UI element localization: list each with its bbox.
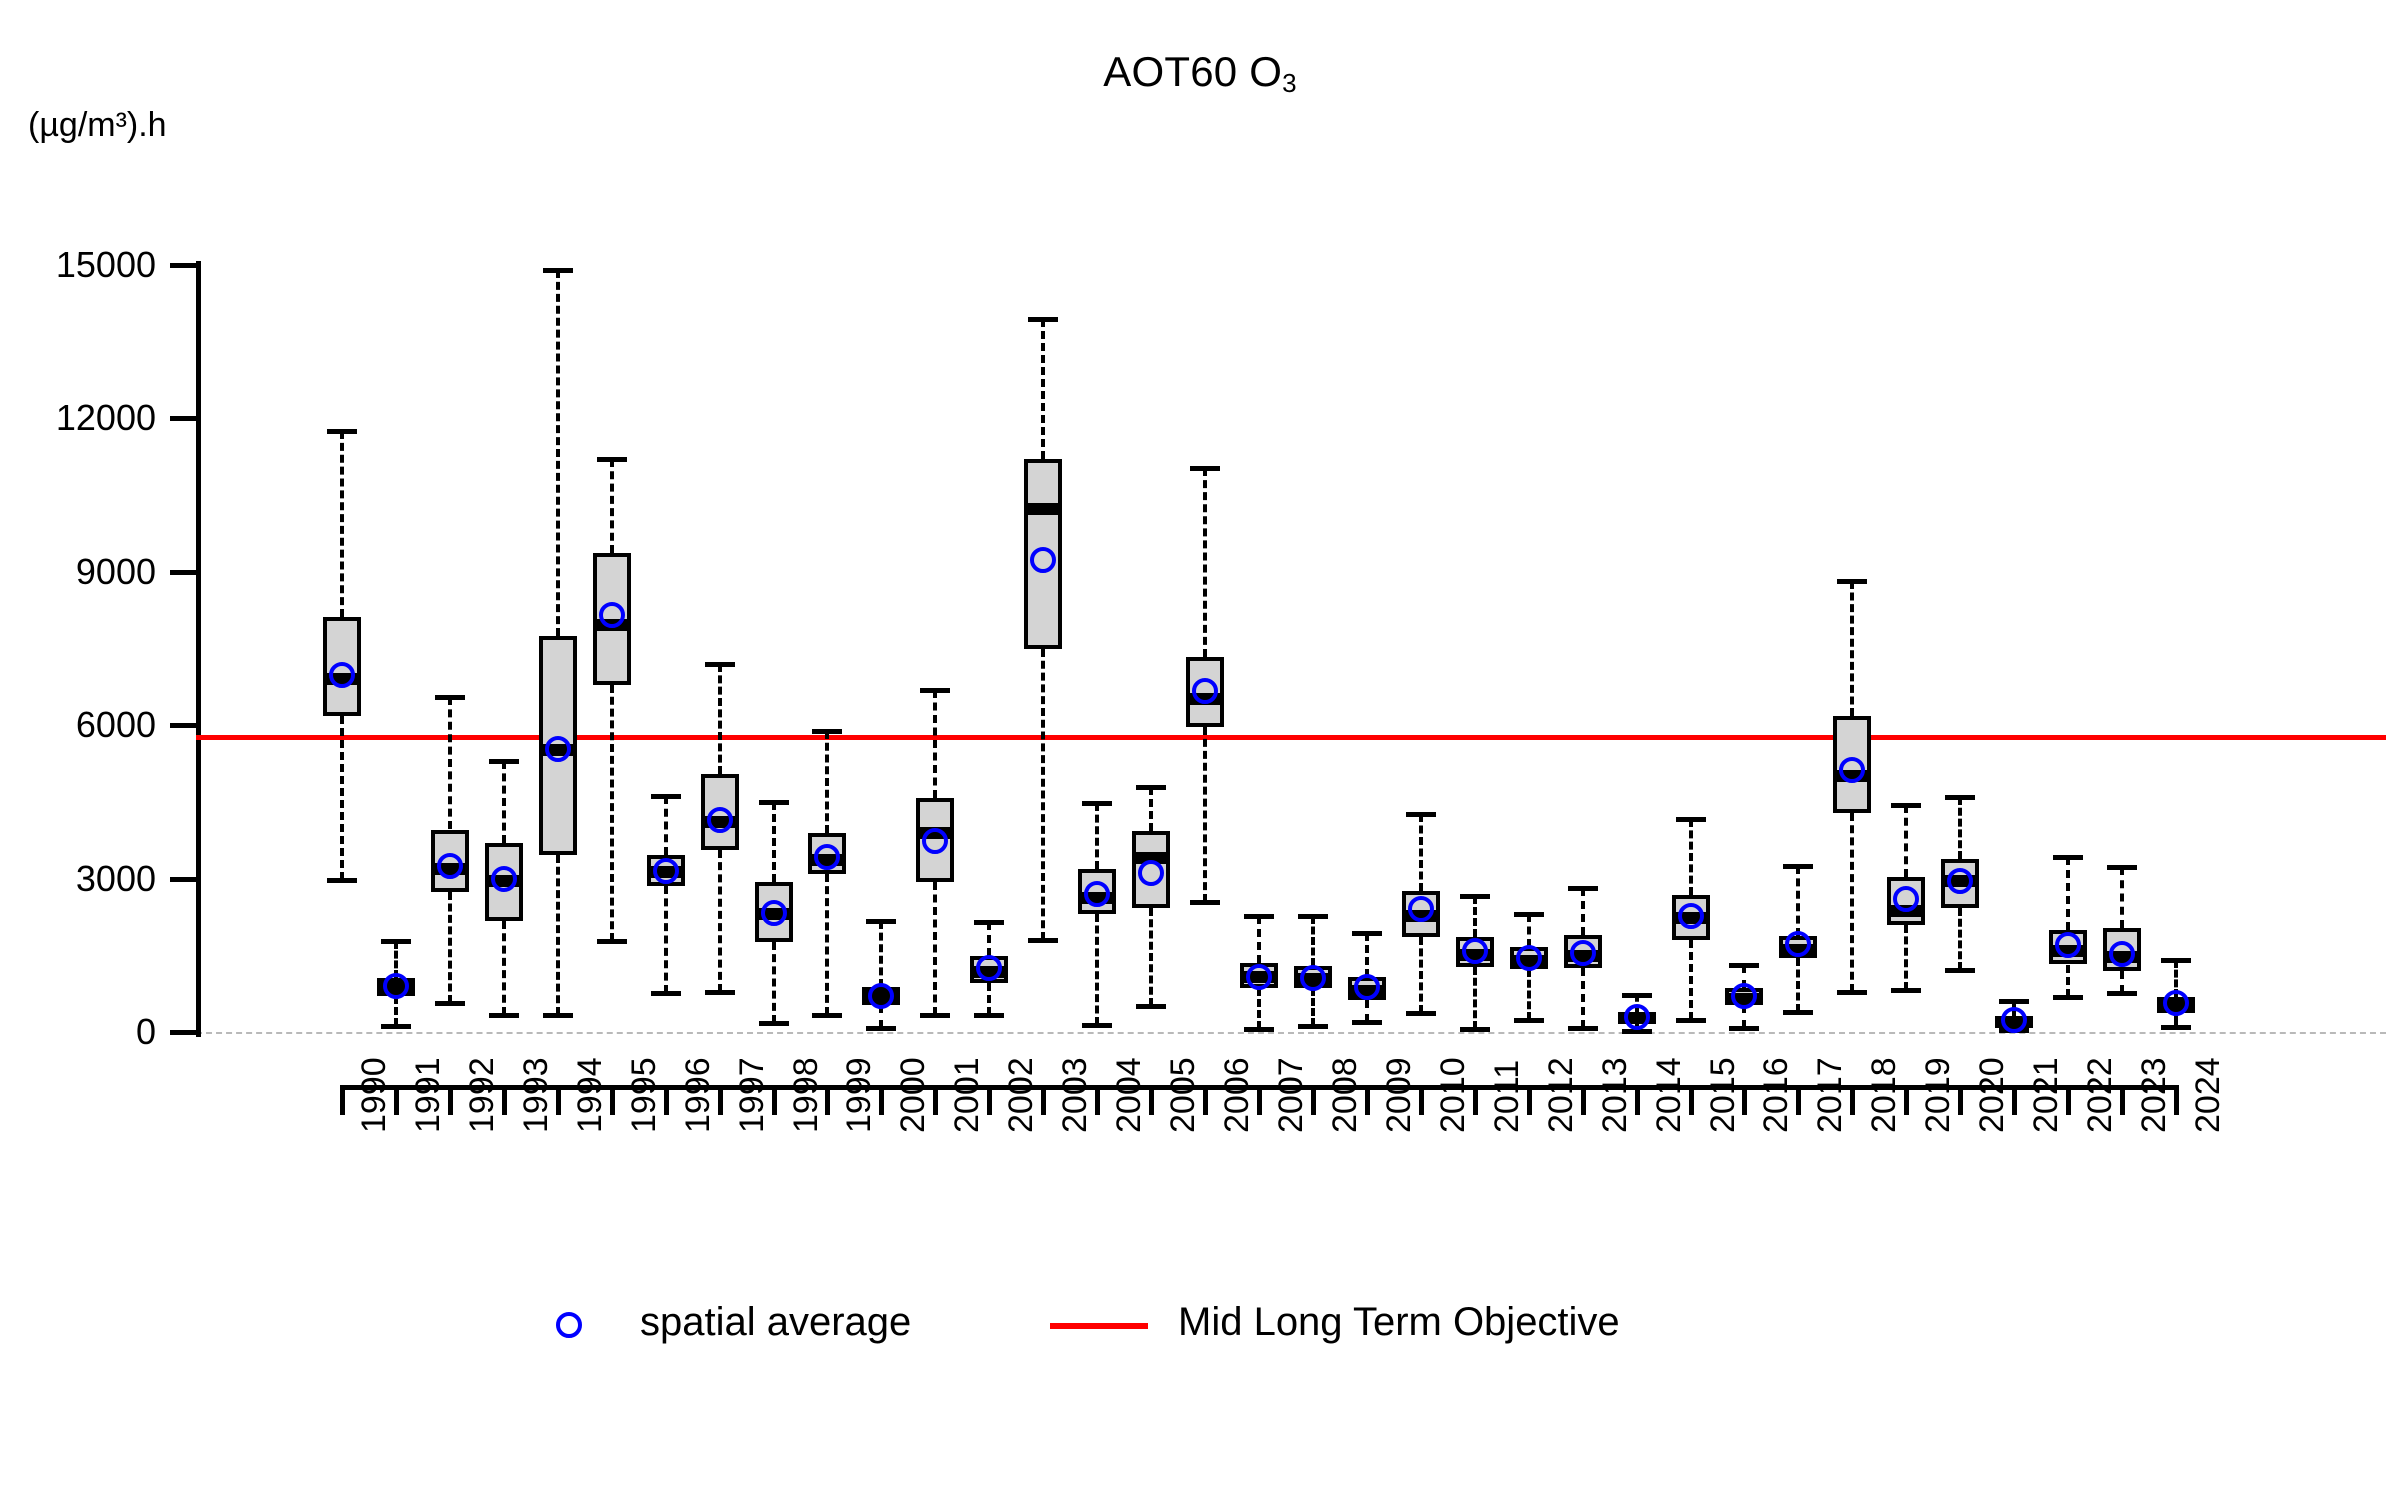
x-axis-tick-label: 1995 — [625, 1057, 664, 1133]
lower-whisker-line — [664, 886, 668, 993]
spatial-average-marker — [707, 807, 733, 833]
chart-legend: spatial average Mid Long Term Objective — [0, 1290, 2400, 1370]
x-axis-tick-label: 1993 — [517, 1057, 556, 1133]
x-axis-tick — [987, 1085, 992, 1115]
lower-whisker-line — [1527, 969, 1531, 1020]
spatial-average-marker — [1030, 547, 1056, 573]
lower-whisker-cap — [543, 1013, 573, 1018]
x-axis-tick-label: 2004 — [1110, 1057, 1149, 1133]
x-axis-tick — [1635, 1085, 1640, 1115]
upper-whisker-cap — [1999, 999, 2029, 1004]
median-line — [1024, 503, 1062, 515]
x-axis-tick — [2066, 1085, 2071, 1115]
x-axis-tick-label: 2012 — [1542, 1057, 1581, 1133]
y-axis-tick-label: 12000 — [0, 397, 156, 439]
upper-whisker-line — [1904, 805, 1908, 877]
spatial-average-marker — [1084, 881, 1110, 907]
lower-whisker-cap — [705, 990, 735, 995]
lower-whisker-line — [933, 882, 937, 1015]
y-axis-tick-label: 6000 — [0, 704, 156, 746]
lower-whisker-cap — [1514, 1018, 1544, 1023]
upper-whisker-cap — [1783, 864, 1813, 869]
lower-whisker-cap — [1460, 1027, 1490, 1032]
upper-whisker-cap — [759, 800, 789, 805]
x-axis-tick — [1257, 1085, 1262, 1115]
lower-whisker-line — [502, 921, 506, 1015]
upper-whisker-cap — [1891, 803, 1921, 808]
lower-whisker-cap — [1891, 988, 1921, 993]
lower-whisker-cap — [1298, 1024, 1328, 1029]
spatial-average-marker — [599, 602, 625, 628]
x-axis-tick — [1203, 1085, 1208, 1115]
x-axis-tick — [1689, 1085, 1694, 1115]
threshold-line-mid-long-term-objective — [196, 735, 2386, 740]
lower-whisker-cap — [651, 991, 681, 996]
upper-whisker-line — [448, 697, 452, 829]
upper-whisker-line — [2120, 867, 2124, 928]
y-axis-tick — [170, 723, 196, 728]
upper-whisker-line — [1958, 797, 1962, 859]
upper-whisker-line — [340, 431, 344, 617]
upper-whisker-cap — [2107, 865, 2137, 870]
x-axis-tick — [2120, 1085, 2125, 1115]
x-axis-tick-label: 2013 — [1596, 1057, 1635, 1133]
y-axis-tick-label: 15000 — [0, 244, 156, 286]
y-axis-tick-label: 9000 — [0, 551, 156, 593]
y-axis-tick — [170, 263, 196, 268]
x-axis-tick-label: 2024 — [2189, 1057, 2228, 1133]
upper-whisker-line — [502, 761, 506, 843]
upper-whisker-cap — [2161, 958, 2191, 963]
x-axis-tick-label: 2002 — [1002, 1057, 1041, 1133]
lower-whisker-line — [1689, 940, 1693, 1019]
spatial-average-marker — [1678, 903, 1704, 929]
upper-whisker-cap — [705, 662, 735, 667]
x-axis-tick-label: 1994 — [571, 1057, 610, 1133]
spatial-average-marker — [976, 955, 1002, 981]
upper-whisker-cap — [327, 429, 357, 434]
x-axis-tick-label: 2020 — [1973, 1057, 2012, 1133]
x-axis-tick — [1742, 1085, 1747, 1115]
upper-whisker-line — [1257, 916, 1261, 964]
upper-whisker-cap — [1190, 466, 1220, 471]
y-axis-line — [196, 261, 201, 1037]
lower-whisker-line — [1095, 914, 1099, 1025]
upper-whisker-cap — [1622, 993, 1652, 998]
x-axis-tick — [1365, 1085, 1370, 1115]
x-axis-tick — [933, 1085, 938, 1115]
x-axis-tick-label: 2023 — [2135, 1057, 2174, 1133]
spatial-average-marker — [1516, 945, 1542, 971]
lower-whisker-line — [556, 855, 560, 1016]
lower-whisker-cap — [1568, 1026, 1598, 1031]
upper-whisker-cap — [435, 695, 465, 700]
lower-whisker-cap — [920, 1013, 950, 1018]
upper-whisker-line — [1149, 787, 1153, 831]
lower-whisker-line — [1958, 908, 1962, 970]
lower-whisker-cap — [597, 939, 627, 944]
spatial-average-marker — [1785, 931, 1811, 957]
upper-whisker-cap — [543, 268, 573, 273]
lower-whisker-line — [2120, 971, 2124, 993]
upper-whisker-line — [2066, 857, 2070, 930]
x-axis-tick-label: 2010 — [1434, 1057, 1473, 1133]
x-axis-tick-label: 1996 — [679, 1057, 718, 1133]
lower-whisker-line — [1311, 988, 1315, 1026]
y-axis-tick — [170, 877, 196, 882]
spatial-average-marker — [545, 736, 571, 762]
spatial-average-marker — [1354, 974, 1380, 1000]
lower-whisker-cap — [435, 1001, 465, 1006]
spatial-average-marker — [437, 853, 463, 879]
legend-label-mid-long-term-objective: Mid Long Term Objective — [1178, 1300, 1620, 1345]
upper-whisker-line — [825, 731, 829, 832]
upper-whisker-cap — [1460, 894, 1490, 899]
legend-marker-spatial-average — [556, 1312, 582, 1338]
upper-whisker-line — [987, 922, 991, 957]
legend-label-spatial-average: spatial average — [640, 1300, 911, 1345]
upper-whisker-line — [1581, 888, 1585, 935]
lower-whisker-line — [772, 942, 776, 1023]
spatial-average-marker — [1624, 1004, 1650, 1030]
x-axis-tick — [1581, 1085, 1586, 1115]
upper-whisker-cap — [2053, 855, 2083, 860]
x-axis-tick-label: 2005 — [1164, 1057, 1203, 1133]
x-axis-tick-label: 2021 — [2027, 1057, 2066, 1133]
y-axis-tick — [170, 570, 196, 575]
x-axis-tick-label: 2019 — [1919, 1057, 1958, 1133]
upper-whisker-line — [718, 664, 722, 774]
upper-whisker-cap — [920, 688, 950, 693]
lower-whisker-line — [1041, 649, 1045, 940]
upper-whisker-line — [1041, 319, 1045, 459]
lower-whisker-line — [987, 983, 991, 1015]
x-axis-tick — [664, 1085, 669, 1115]
upper-whisker-cap — [489, 759, 519, 764]
spatial-average-marker — [1408, 896, 1434, 922]
upper-whisker-cap — [1568, 886, 1598, 891]
x-axis-tick — [2012, 1085, 2017, 1115]
lower-whisker-line — [1203, 727, 1207, 902]
spatial-average-marker — [1462, 938, 1488, 964]
lower-whisker-line — [448, 892, 452, 1003]
spatial-average-marker — [2109, 941, 2135, 967]
upper-whisker-cap — [381, 939, 411, 944]
y-axis-tick — [170, 1030, 196, 1035]
x-axis-tick-label: 1997 — [733, 1057, 772, 1133]
lower-whisker-line — [1473, 967, 1477, 1029]
upper-whisker-line — [1689, 819, 1693, 895]
lower-whisker-cap — [2161, 1025, 2191, 1030]
upper-whisker-cap — [1945, 795, 1975, 800]
upper-whisker-cap — [1676, 817, 1706, 822]
x-axis-tick-label: 1998 — [787, 1057, 826, 1133]
spatial-average-marker — [2055, 932, 2081, 958]
x-axis-tick-label: 2001 — [948, 1057, 987, 1133]
lower-whisker-line — [610, 685, 614, 941]
x-axis-tick-label: 1999 — [840, 1057, 879, 1133]
x-axis-tick — [879, 1085, 884, 1115]
upper-whisker-cap — [1136, 785, 1166, 790]
upper-whisker-line — [1203, 468, 1207, 657]
upper-whisker-cap — [1514, 912, 1544, 917]
upper-whisker-line — [933, 690, 937, 798]
x-axis-tick — [340, 1085, 345, 1115]
x-axis-tick-label: 2018 — [1865, 1057, 1904, 1133]
lower-whisker-cap — [1136, 1004, 1166, 1009]
spatial-average-marker — [329, 662, 355, 688]
x-axis-tick-label: 2000 — [894, 1057, 933, 1133]
lower-whisker-cap — [759, 1021, 789, 1026]
x-axis-tick — [1419, 1085, 1424, 1115]
upper-whisker-line — [1796, 866, 1800, 936]
x-axis-tick-label: 2009 — [1380, 1057, 1419, 1133]
spatial-average-marker — [1246, 964, 1272, 990]
lower-whisker-cap — [1837, 990, 1867, 995]
lower-whisker-line — [1904, 925, 1908, 990]
x-axis-tick-label: 2015 — [1704, 1057, 1743, 1133]
x-axis-tick — [1311, 1085, 1316, 1115]
lower-whisker-line — [2066, 965, 2070, 998]
spatial-average-marker — [761, 900, 787, 926]
x-axis-tick-label: 1991 — [409, 1057, 448, 1133]
upper-whisker-cap — [651, 794, 681, 799]
spatial-average-marker — [1300, 965, 1326, 991]
upper-whisker-cap — [1244, 914, 1274, 919]
x-axis-tick-label: 2016 — [1757, 1057, 1796, 1133]
lower-whisker-line — [1257, 988, 1261, 1029]
upper-whisker-cap — [1082, 801, 1112, 806]
upper-whisker-cap — [974, 920, 1004, 925]
legend-marker-mid-long-term-objective — [1050, 1323, 1148, 1329]
lower-whisker-cap — [1190, 900, 1220, 905]
lower-whisker-cap — [1729, 1026, 1759, 1031]
x-axis-tick-label: 2006 — [1218, 1057, 1257, 1133]
lower-whisker-cap — [974, 1013, 1004, 1018]
x-axis-tick-label: 2022 — [2081, 1057, 2120, 1133]
x-axis-tick — [502, 1085, 507, 1115]
upper-whisker-line — [1473, 896, 1477, 937]
lower-whisker-cap — [1352, 1020, 1382, 1025]
x-axis-tick-label: 2003 — [1056, 1057, 1095, 1133]
lower-whisker-line — [1419, 937, 1423, 1013]
lower-whisker-cap — [489, 1013, 519, 1018]
upper-whisker-line — [879, 921, 883, 987]
upper-whisker-line — [664, 796, 668, 855]
lower-whisker-line — [340, 716, 344, 880]
lower-whisker-cap — [381, 1024, 411, 1029]
x-axis-tick-label: 1992 — [463, 1057, 502, 1133]
spatial-average-marker — [491, 866, 517, 892]
x-axis-tick — [394, 1085, 399, 1115]
spatial-average-marker — [653, 858, 679, 884]
upper-whisker-line — [610, 459, 614, 553]
lower-whisker-cap — [1676, 1018, 1706, 1023]
lower-whisker-line — [1581, 968, 1585, 1028]
x-axis-tick — [1850, 1085, 1855, 1115]
upper-whisker-cap — [1028, 317, 1058, 322]
x-axis-tick — [2174, 1085, 2179, 1115]
upper-whisker-line — [1419, 814, 1423, 891]
upper-whisker-cap — [812, 729, 842, 734]
x-axis-tick-label: 2017 — [1811, 1057, 1850, 1133]
lower-whisker-cap — [1244, 1027, 1274, 1032]
x-axis-tick — [1041, 1085, 1046, 1115]
lower-whisker-cap — [2107, 991, 2137, 996]
x-axis-tick — [1958, 1085, 1963, 1115]
upper-whisker-cap — [866, 919, 896, 924]
upper-whisker-line — [772, 802, 776, 882]
upper-whisker-line — [1095, 803, 1099, 869]
lower-whisker-line — [825, 874, 829, 1015]
x-axis-tick — [1149, 1085, 1154, 1115]
upper-whisker-line — [1850, 581, 1854, 716]
x-axis-tick-label: 2011 — [1488, 1060, 1527, 1133]
x-axis-tick — [556, 1085, 561, 1115]
upper-whisker-line — [1365, 933, 1369, 977]
x-axis-tick-label: 2007 — [1272, 1057, 1311, 1133]
y-axis-tick — [170, 416, 196, 421]
lower-whisker-cap — [1082, 1023, 1112, 1028]
spatial-average-marker — [1570, 940, 1596, 966]
lower-whisker-line — [1149, 908, 1153, 1006]
lower-whisker-cap — [2053, 995, 2083, 1000]
spatial-average-marker — [1947, 868, 1973, 894]
x-axis-tick-label: 2014 — [1650, 1057, 1689, 1133]
lower-whisker-cap — [1945, 968, 1975, 973]
lower-whisker-line — [1850, 813, 1854, 992]
x-axis-tick — [1473, 1085, 1478, 1115]
lower-whisker-line — [394, 996, 398, 1026]
lower-whisker-line — [1796, 958, 1800, 1012]
y-axis-tick-label: 3000 — [0, 858, 156, 900]
upper-whisker-cap — [1352, 931, 1382, 936]
x-axis-tick — [1527, 1085, 1532, 1115]
upper-whisker-line — [1527, 914, 1531, 947]
upper-whisker-cap — [1837, 579, 1867, 584]
x-axis-tick — [1095, 1085, 1100, 1115]
lower-whisker-cap — [1028, 938, 1058, 943]
x-axis-tick — [825, 1085, 830, 1115]
y-axis-tick-label: 0 — [0, 1011, 156, 1053]
x-axis-tick — [718, 1085, 723, 1115]
x-axis-tick-label: 1990 — [355, 1057, 394, 1133]
lower-whisker-cap — [327, 878, 357, 883]
upper-whisker-line — [1311, 916, 1315, 966]
zero-reference-line — [196, 1032, 2386, 1034]
upper-whisker-cap — [1406, 812, 1436, 817]
lower-whisker-cap — [866, 1026, 896, 1031]
boxplot-canvas: 0300060009000120001500019901991199219931… — [0, 0, 2400, 1500]
lower-whisker-cap — [812, 1013, 842, 1018]
lower-whisker-line — [1365, 1000, 1369, 1022]
x-axis-tick — [610, 1085, 615, 1115]
lower-whisker-line — [718, 850, 722, 992]
x-axis-tick-label: 2008 — [1326, 1057, 1365, 1133]
lower-whisker-cap — [1783, 1010, 1813, 1015]
x-axis-tick — [448, 1085, 453, 1115]
x-axis-tick — [772, 1085, 777, 1115]
upper-whisker-cap — [597, 457, 627, 462]
spatial-average-marker — [383, 973, 409, 999]
upper-whisker-cap — [1729, 963, 1759, 968]
x-axis-tick — [1904, 1085, 1909, 1115]
upper-whisker-line — [556, 270, 560, 636]
x-axis-tick — [1796, 1085, 1801, 1115]
lower-whisker-cap — [1406, 1011, 1436, 1016]
upper-whisker-cap — [1298, 914, 1328, 919]
lower-whisker-cap — [1622, 1029, 1652, 1034]
